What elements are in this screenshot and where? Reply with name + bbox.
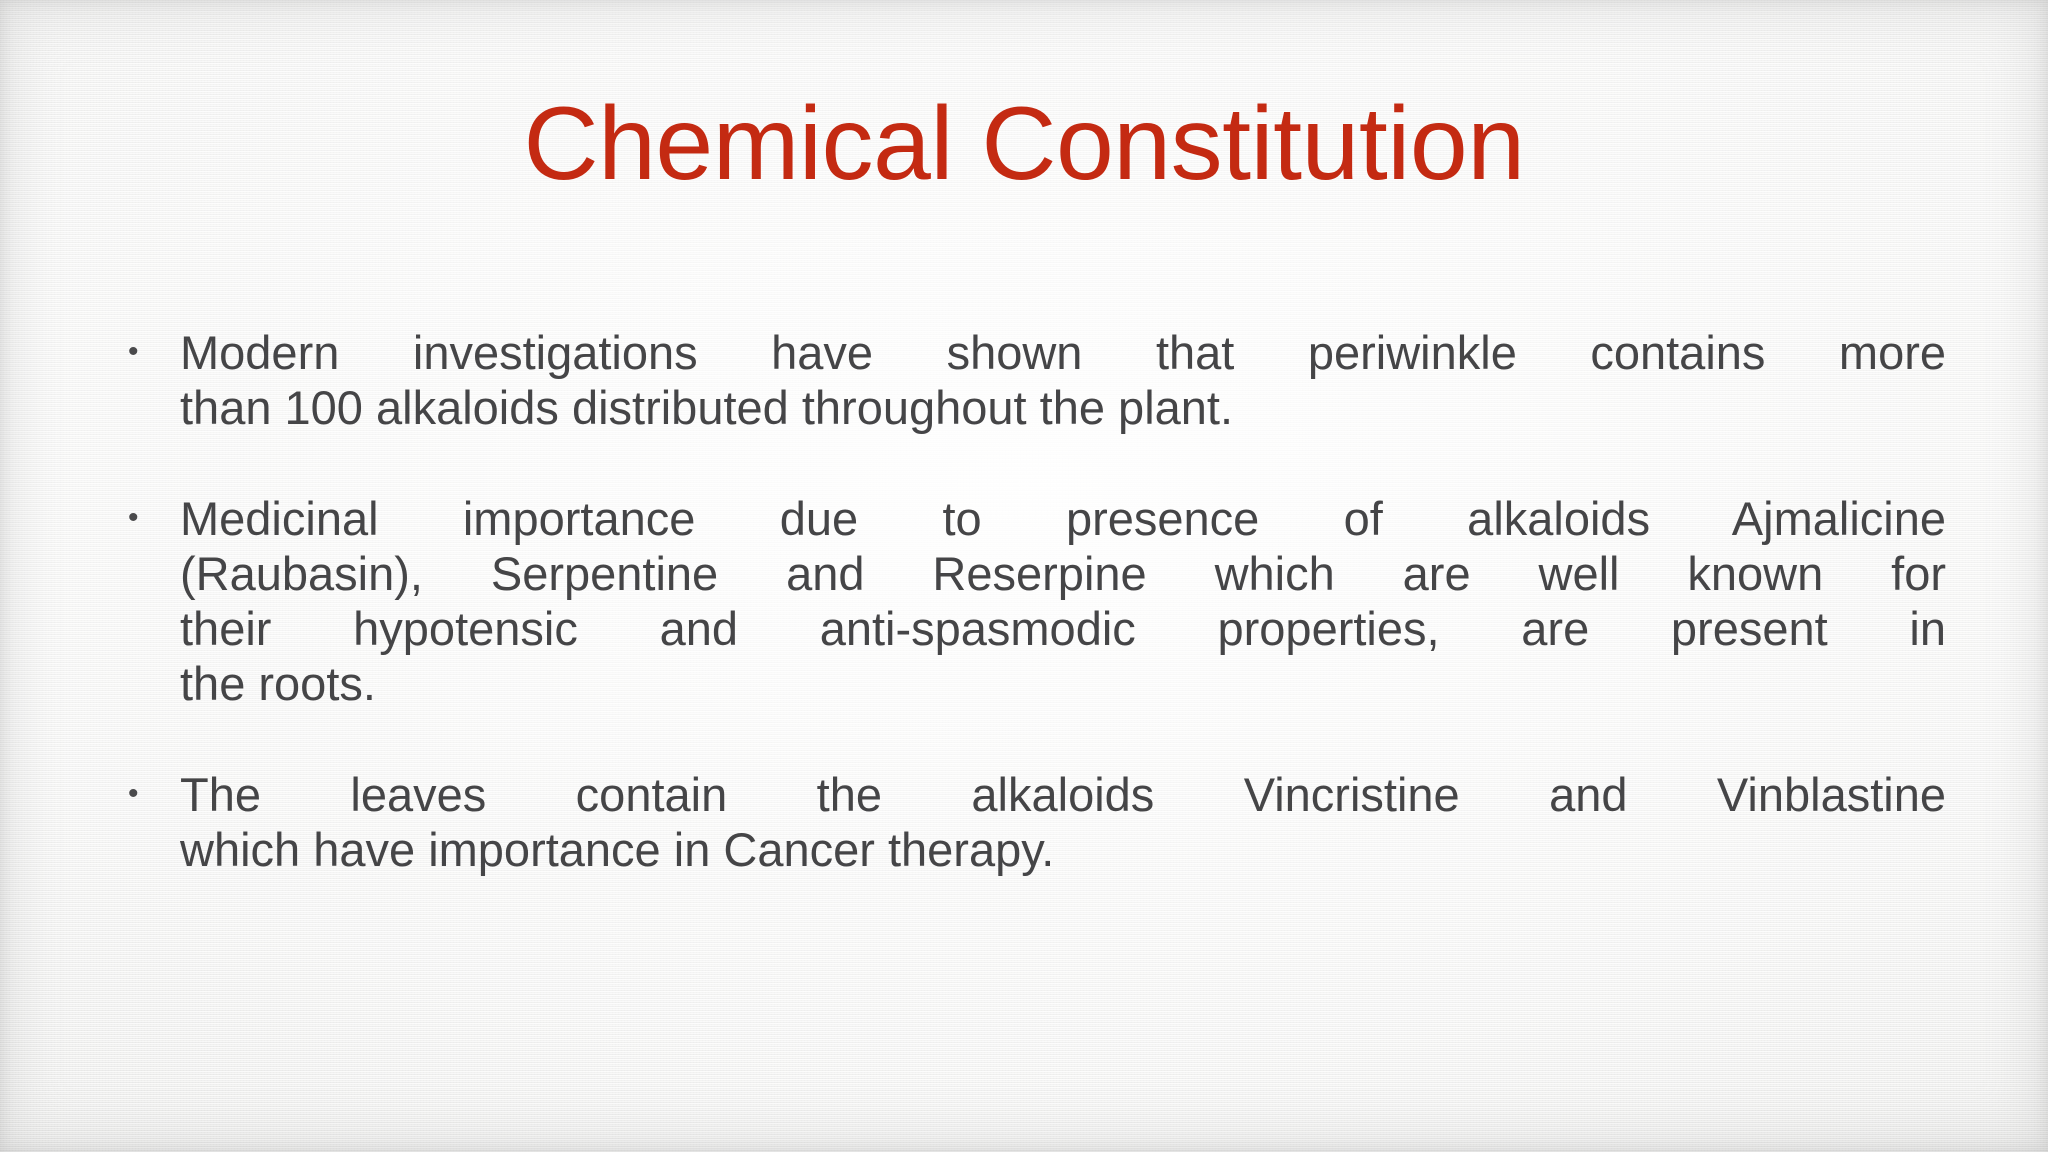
- bullet-text-1: Modern investigations have shown that pe…: [180, 326, 1946, 436]
- slide-title: Chemical Constitution: [0, 92, 2048, 196]
- slide-content: Chemical Constitution • Modern investiga…: [0, 0, 2048, 1152]
- bullet-list: • Modern investigations have shown that …: [128, 326, 1946, 934]
- bullet-text-2: Medicinal importance due to presence of …: [180, 492, 1946, 712]
- bullet-line: Medicinal importance due to presence of …: [180, 492, 1946, 547]
- bullet-point-icon: •: [128, 768, 180, 820]
- bullet-item-2: • Medicinal importance due to presence o…: [128, 492, 1946, 712]
- bullet-point-icon: •: [128, 326, 180, 378]
- bullet-point-icon: •: [128, 492, 180, 544]
- bullet-line: their hypotensic and anti-spasmodic prop…: [180, 602, 1946, 657]
- presentation-slide: Chemical Constitution • Modern investiga…: [0, 0, 2048, 1152]
- bullet-line: than 100 alkaloids distributed throughou…: [180, 381, 1946, 436]
- bullet-line: the roots.: [180, 657, 1946, 712]
- bullet-line: Modern investigations have shown that pe…: [180, 326, 1946, 381]
- bullet-line: which have importance in Cancer therapy.: [180, 823, 1946, 878]
- bullet-text-3: The leaves contain the alkaloids Vincris…: [180, 768, 1946, 878]
- bullet-item-3: • The leaves contain the alkaloids Vincr…: [128, 768, 1946, 878]
- bullet-line: (Raubasin), Serpentine and Reserpine whi…: [180, 547, 1946, 602]
- bullet-item-1: • Modern investigations have shown that …: [128, 326, 1946, 436]
- bullet-line: The leaves contain the alkaloids Vincris…: [180, 768, 1946, 823]
